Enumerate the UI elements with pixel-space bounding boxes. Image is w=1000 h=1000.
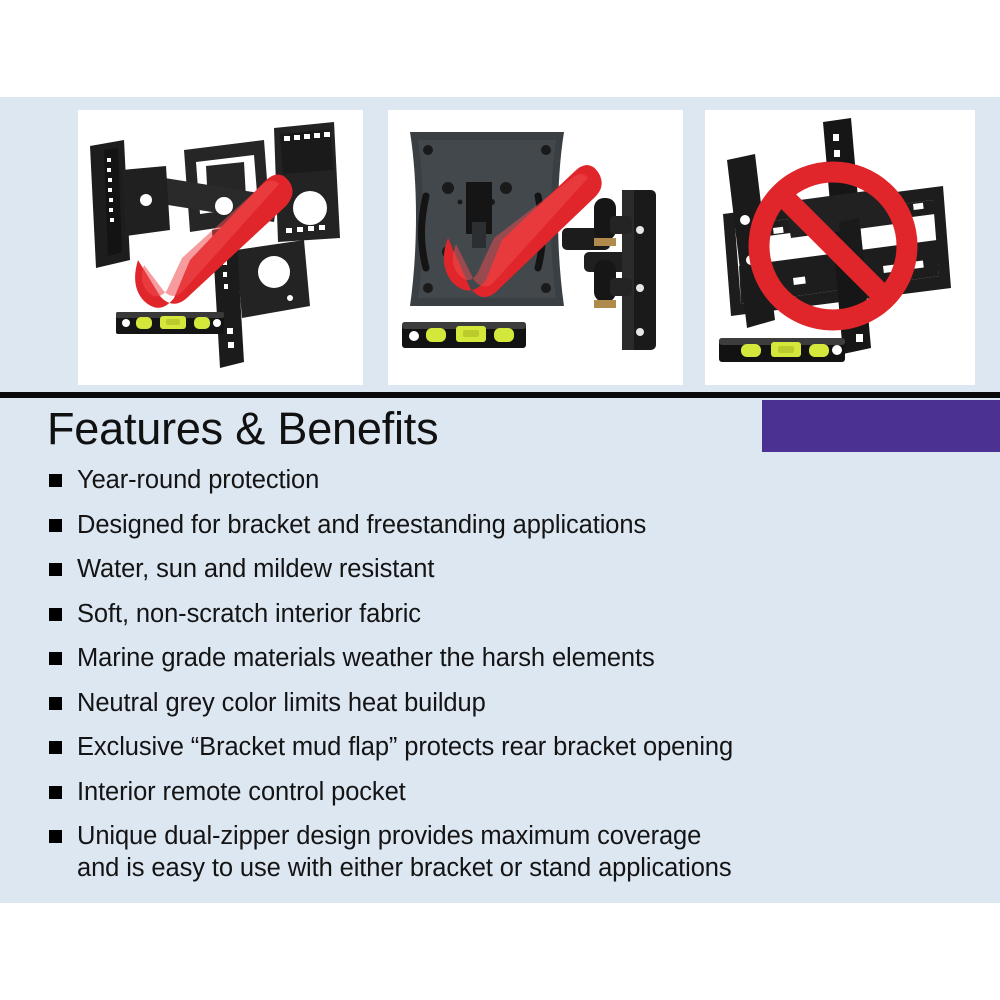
list-item: Water, sun and mildew resistant (47, 553, 927, 585)
list-item-label: Exclusive “Bracket mud flap” protects re… (77, 731, 927, 763)
accent-bar (762, 400, 1000, 452)
list-item: Designed for bracket and freestanding ap… (47, 509, 927, 541)
page-title: Features & Benefits (47, 404, 438, 454)
list-item-label: Soft, non-scratch interior fabric (77, 598, 927, 630)
list-item-label: Unique dual-zipper design provides maxim… (77, 820, 927, 884)
photo-panel-tilt-mount (705, 110, 975, 385)
list-item: Soft, non-scratch interior fabric (47, 598, 927, 630)
list-item: Year-round protection (47, 464, 927, 496)
list-item-label: Year-round protection (77, 464, 927, 496)
list-item: Neutral grey color limits heat buildup (47, 687, 927, 719)
list-item: Exclusive “Bracket mud flap” protects re… (47, 731, 927, 763)
list-item: Interior remote control pocket (47, 776, 927, 808)
list-item-label: Designed for bracket and freestanding ap… (77, 509, 927, 541)
section-divider (0, 392, 1000, 398)
list-item: Marine grade materials weather the harsh… (47, 642, 927, 674)
features-benefits-list: Year-round protection Designed for brack… (47, 464, 927, 897)
list-item: Unique dual-zipper design provides maxim… (47, 820, 927, 884)
bullet-square-icon (49, 697, 62, 710)
bullet-square-icon (49, 652, 62, 665)
bullet-square-icon (49, 474, 62, 487)
bullet-square-icon (49, 830, 62, 843)
product-feature-page: Features & Benefits Year-round protectio… (0, 0, 1000, 1000)
list-item-label: Neutral grey color limits heat buildup (77, 687, 927, 719)
list-item-label: Marine grade materials weather the harsh… (77, 642, 927, 674)
bullet-square-icon (49, 608, 62, 621)
list-item-label: Water, sun and mildew resistant (77, 553, 927, 585)
spirit-level-tool (116, 312, 224, 334)
spirit-level-tool (402, 322, 526, 348)
bullet-square-icon (49, 519, 62, 532)
spirit-level-tool (719, 338, 845, 362)
bullet-square-icon (49, 563, 62, 576)
bullet-square-icon (49, 786, 62, 799)
list-item-label: Interior remote control pocket (77, 776, 927, 808)
compatibility-photo-strip (0, 110, 1000, 385)
bullet-square-icon (49, 741, 62, 754)
photo-panel-full-motion-mount (78, 110, 363, 385)
photo-panel-swivel-arm-mount (388, 110, 683, 385)
